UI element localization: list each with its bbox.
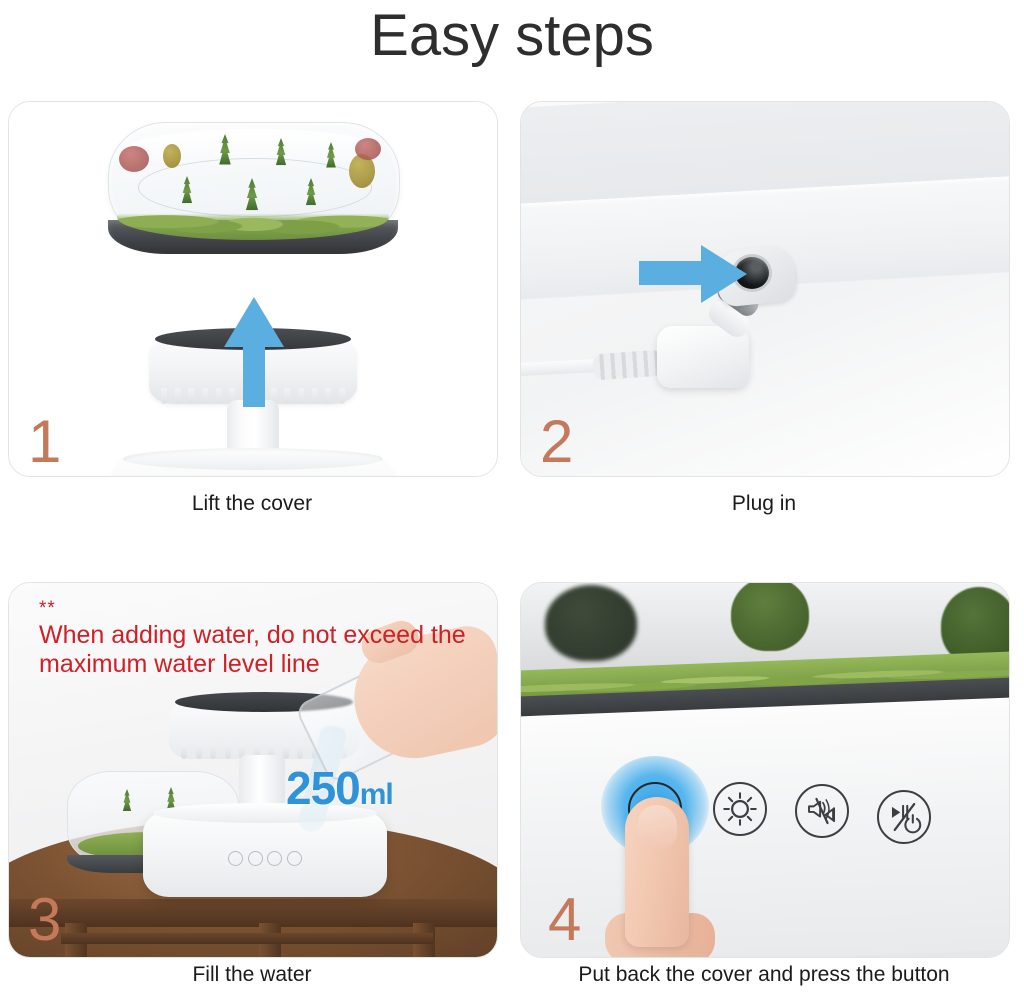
step-panel-3: ** When adding water, do not exceed the … — [8, 582, 498, 958]
water-tank — [113, 457, 393, 477]
step-panel-2 — [520, 101, 1010, 477]
power-button[interactable] — [877, 790, 931, 844]
sun-icon — [715, 784, 765, 834]
miniature-red-bush — [355, 138, 381, 160]
cable-strain-relief — [592, 350, 664, 381]
blurred-tree — [545, 585, 637, 661]
page-title: Easy steps — [0, 0, 1024, 74]
table-rail — [61, 933, 433, 944]
step-panel-1 — [8, 101, 498, 477]
capacity-unit: ml — [360, 778, 393, 811]
step-number-2: 2 — [540, 412, 573, 472]
miniature-red-bush — [119, 146, 149, 172]
power-button-icon — [287, 851, 302, 866]
warning-text: When adding water, do not exceed the max… — [39, 621, 479, 679]
step-3-illustration: ** When adding water, do not exceed the … — [9, 583, 497, 957]
warning-marker: ** — [39, 601, 479, 617]
step-caption-1: Lift the cover — [8, 491, 496, 517]
step-number-1: 1 — [28, 412, 61, 472]
miniature-shrub — [163, 144, 181, 168]
blurred-tree — [731, 583, 809, 651]
capacity-value: 250 — [286, 762, 360, 814]
control-panel-icons — [228, 851, 302, 866]
step-caption-3: Fill the water — [8, 962, 496, 988]
step-caption-4: Put back the cover and press the button — [520, 962, 1008, 988]
capacity-label: 250ml — [286, 765, 393, 818]
water-level-warning: ** When adding water, do not exceed the … — [39, 601, 479, 679]
fingernail — [637, 805, 677, 849]
step-number-4: 4 — [548, 890, 581, 950]
play-power-icon — [879, 792, 929, 842]
sound-button-icon — [267, 851, 282, 866]
step-4-illustration — [521, 583, 1009, 957]
step-1-illustration — [9, 102, 497, 476]
plug-in-arrow-icon — [639, 245, 749, 303]
sound-button[interactable] — [795, 784, 849, 838]
step-caption-2: Plug in — [520, 491, 1008, 517]
light-button[interactable] — [713, 782, 767, 836]
step-panel-4 — [520, 582, 1010, 958]
step-2-illustration — [521, 102, 1009, 476]
volume-next-icon — [797, 786, 847, 836]
step-number-3: 3 — [28, 890, 61, 950]
lift-arrow-icon — [224, 297, 284, 407]
easy-steps-infographic: Easy steps — [0, 0, 1024, 995]
light-button-icon — [248, 851, 263, 866]
mist-button-icon — [228, 851, 243, 866]
